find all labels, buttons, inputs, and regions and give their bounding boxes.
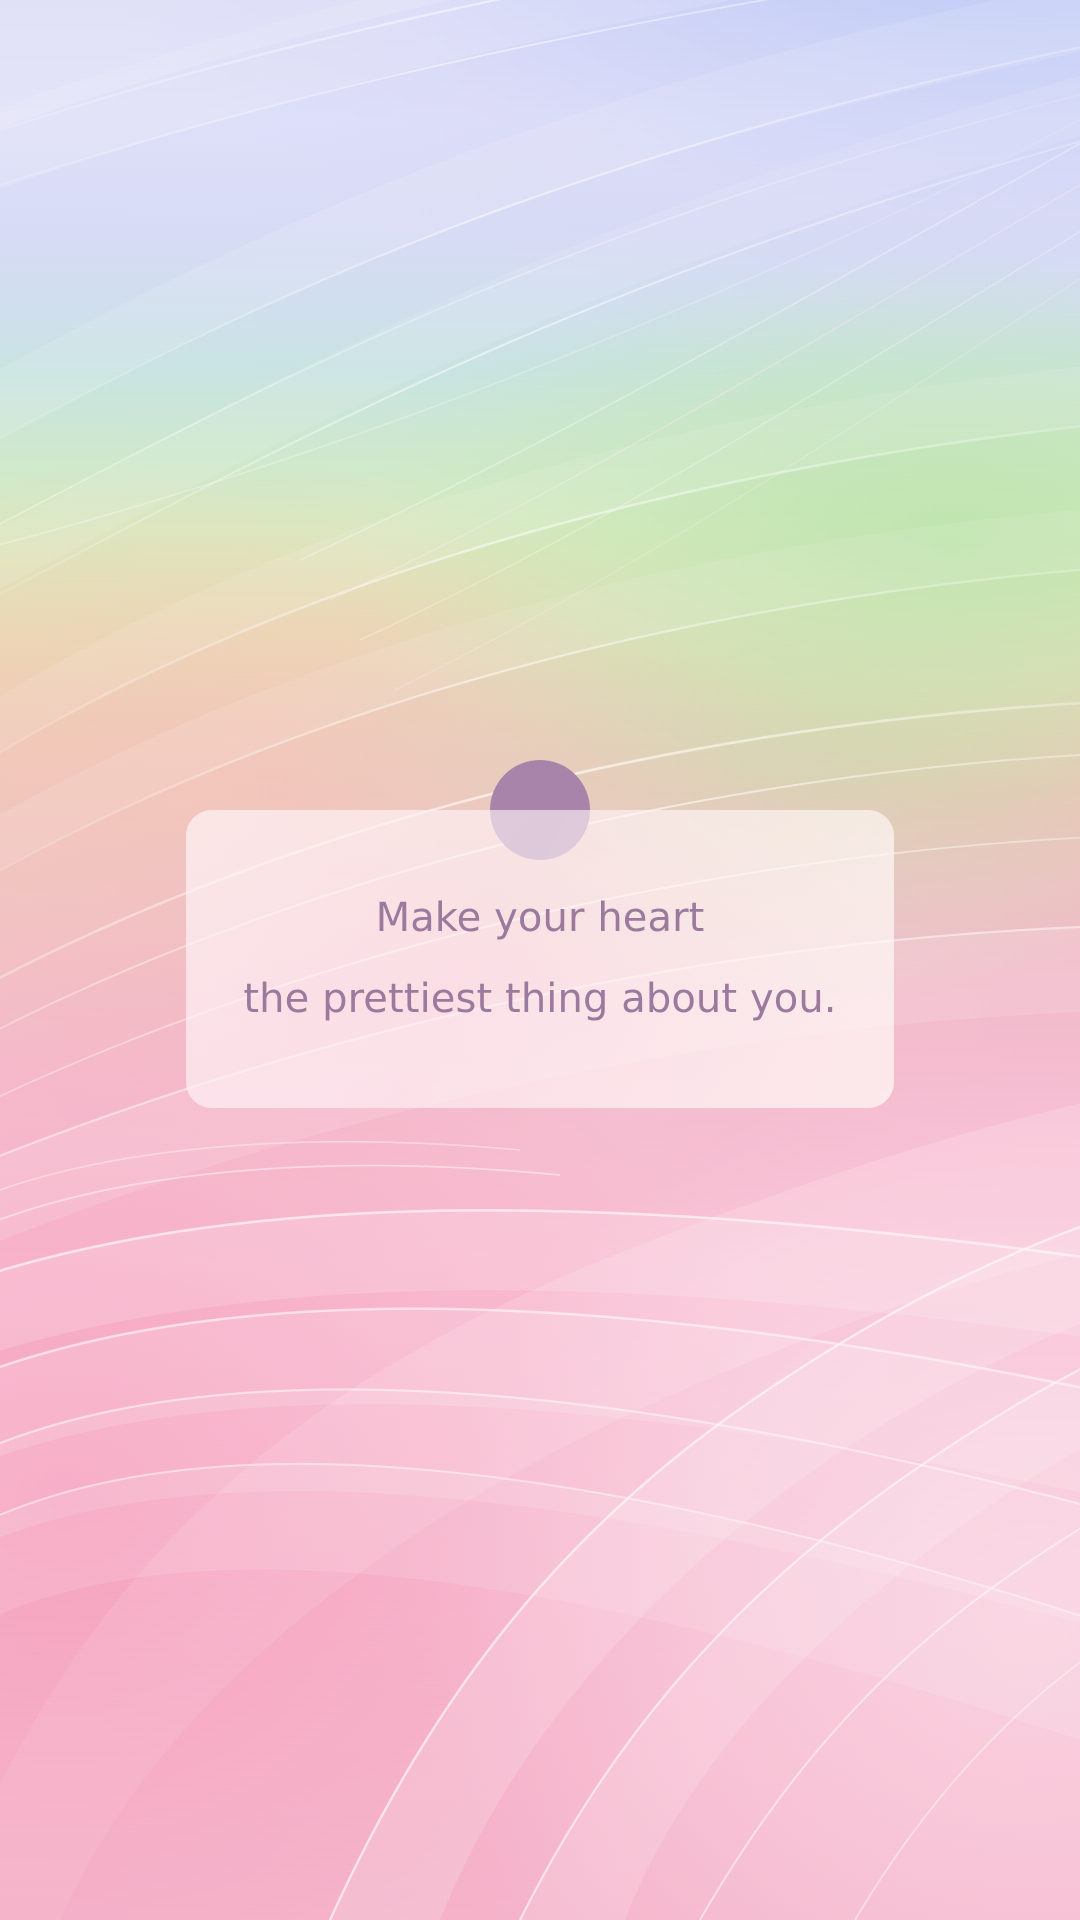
quote-card: Make your heart the prettiest thing abou… [186, 810, 894, 1108]
quote-line-secondary: the prettiest thing about you. [243, 971, 836, 1028]
quote-line-primary: Make your heart [376, 890, 705, 947]
wallpaper-canvas: Make your heart the prettiest thing abou… [0, 0, 1080, 1920]
